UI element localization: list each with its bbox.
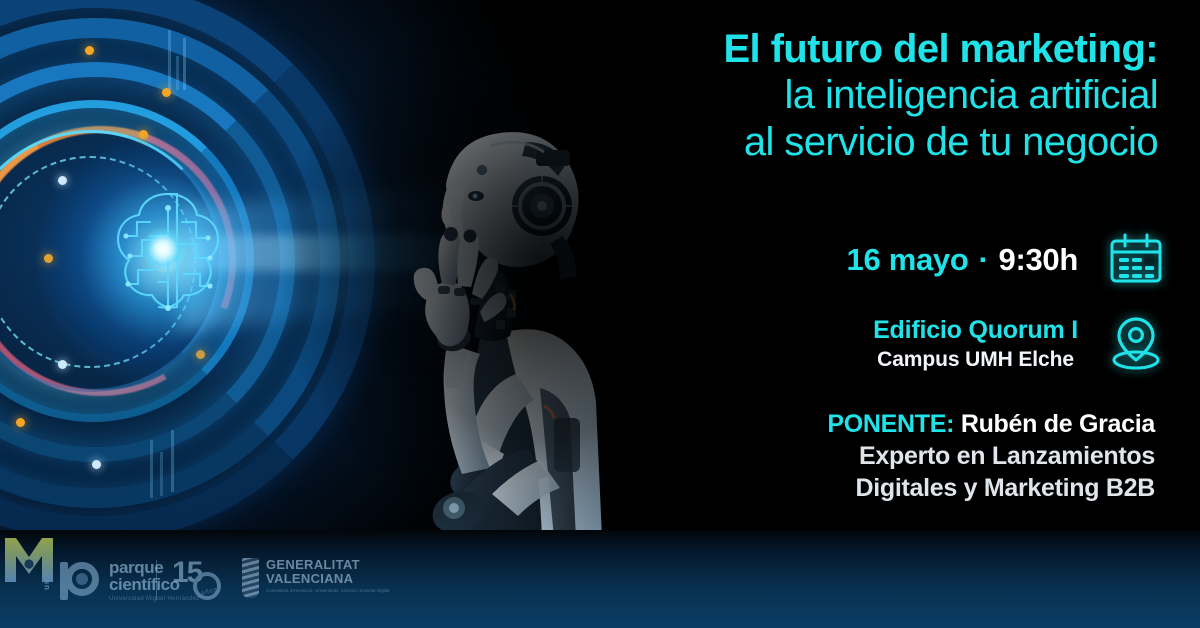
m-logo — [0, 530, 58, 588]
generalitat-line-2: VALENCIANA — [266, 572, 389, 586]
sponsor-footer-bar: umh parque científico Universidad Miguel… — [0, 530, 1200, 628]
page-title: El futuro del marketing: la inteligencia… — [610, 26, 1158, 165]
event-date-block: 16 mayo·9:30h — [648, 228, 1168, 292]
speaker-label: PONENTE: — [827, 410, 954, 438]
generalitat-wordmark: GENERALITAT VALENCIANA Conselleria d'Inn… — [266, 558, 389, 595]
date-separator: · — [978, 242, 988, 277]
event-time: 9:30h — [999, 242, 1078, 277]
hero-image-robot-ai — [0, 0, 640, 535]
speaker-name: Rubén de Gracia — [961, 410, 1155, 438]
speaker-role-line-1: Experto en Lanzamientos — [615, 440, 1155, 472]
generalitat-line-1: GENERALITAT — [266, 558, 389, 572]
headline-line-1: El futuro del marketing: — [610, 26, 1158, 72]
logo-generalitat-valenciana: GENERALITAT VALENCIANA Conselleria d'Inn… — [242, 558, 389, 598]
event-location-block: Edificio Quorum I Campus UMH Elche — [648, 312, 1168, 376]
event-promo-banner: El futuro del marketing: la inteligencia… — [0, 0, 1200, 628]
campus-name: Campus UMH Elche — [873, 348, 1078, 372]
map-pin-icon — [1104, 312, 1168, 376]
logo-divider — [156, 560, 157, 600]
speaker-role-line-2: Digitales y Marketing B2B — [615, 472, 1155, 504]
speaker-name-line: PONENTE: Rubén de Gracia — [615, 408, 1155, 440]
parque-p-mark-icon — [60, 560, 100, 600]
event-date-text: 16 mayo·9:30h — [847, 242, 1079, 278]
event-location-text: Edificio Quorum I Campus UMH Elche — [873, 316, 1078, 372]
headline-line-2: la inteligencia artificial — [610, 72, 1158, 118]
venue-name: Edificio Quorum I — [873, 316, 1078, 345]
calendar-icon — [1104, 228, 1168, 292]
generalitat-line-3: Conselleria d'Innovació, Universitats, C… — [266, 588, 389, 595]
event-date-line: 16 mayo·9:30h — [847, 242, 1079, 277]
generalitat-shield-icon — [242, 558, 259, 598]
headline-line-3: al servicio de tu negocio — [610, 119, 1158, 165]
hero-vignette — [0, 0, 640, 535]
logo-15-anniversary: 15 años — [172, 558, 234, 602]
speaker-block: PONENTE: Rubén de Gracia Experto en Lanz… — [615, 408, 1155, 504]
event-day: 16 mayo — [847, 242, 969, 277]
event-info-panel: El futuro del marketing: la inteligencia… — [600, 0, 1200, 535]
